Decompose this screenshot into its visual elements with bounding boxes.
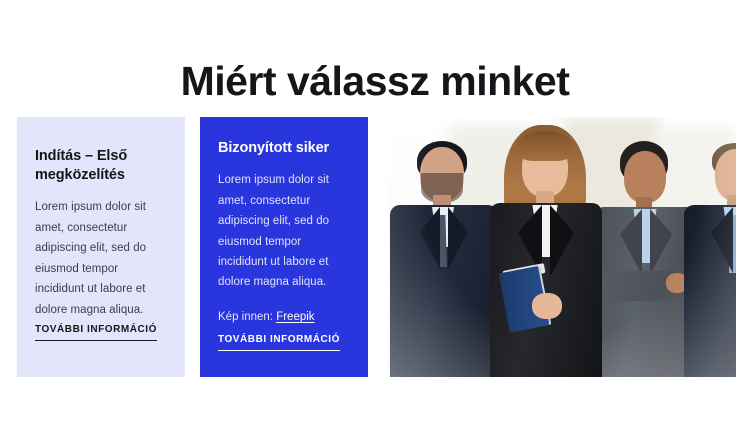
person-woman-center [484,117,606,377]
card-proven-success-title: Bizonyított siker [218,139,350,158]
card-proven-success-more-link[interactable]: TOVÁBBI INFORMÁCIÓ [218,334,340,351]
freepik-link[interactable]: Freepik [276,311,314,323]
person-man-left [390,127,498,377]
team-photo [388,117,736,377]
card-launch[interactable]: Indítás – Első megközelítés Lorem ipsum … [17,117,185,377]
person-woman-grey-suit [594,131,698,377]
hair-fringe [517,131,573,161]
image-credit-prefix: Kép innen: [218,311,273,323]
page-root: Miért válassz minket Indítás – Első megk… [0,0,750,433]
card-launch-title: Indítás – Első megközelítés [35,147,167,185]
person-man-right [684,129,736,377]
page-title: Miért válassz minket [0,57,750,106]
card-proven-success[interactable]: Bizonyított siker Lorem ipsum dolor sit … [200,117,368,377]
card-launch-more-link[interactable]: TOVÁBBI INFORMÁCIÓ [35,324,157,341]
head [624,151,666,203]
card-launch-body: Lorem ipsum dolor sit amet, consectetur … [35,197,167,320]
hands [532,293,562,319]
image-credit: Kép innen: Freepik [218,307,350,327]
photo-background [388,117,736,377]
card-proven-success-body: Lorem ipsum dolor sit amet, consectetur … [218,170,350,293]
